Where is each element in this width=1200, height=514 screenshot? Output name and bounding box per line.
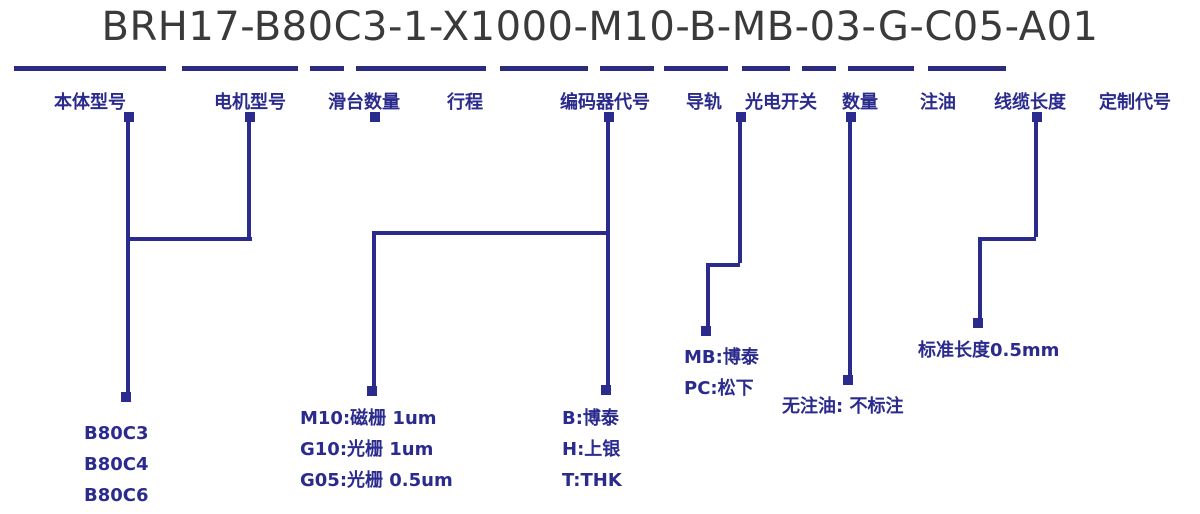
field-label-guide_rail: 导轨: [686, 88, 722, 114]
rail-leader-vertical-upper: [606, 117, 610, 267]
photo-leader-vertical-upper: [738, 117, 742, 263]
oil-leader-end-marker: [843, 375, 853, 385]
option-block-rail_values: B:博泰H:上银T:THK: [562, 403, 622, 496]
field-label-stroke: 行程: [447, 88, 483, 114]
segment-bar-body_model: [14, 66, 166, 71]
encoder-leader-vertical-upper: [372, 231, 376, 389]
encoder-leader-horizontal-jog: [372, 231, 608, 235]
oil-leader-vertical-upper: [848, 117, 852, 263]
segment-bar-custom_code: [928, 66, 1006, 71]
option-block-cable_values: 标准长度0.5mm: [918, 335, 1059, 366]
option-value: G05:光栅 0.5um: [300, 465, 453, 496]
body-leader-end-marker: [121, 392, 131, 402]
segment-bar-motor_model: [182, 66, 298, 71]
option-value: B80C3: [84, 418, 149, 449]
segment-bar-guide_rail: [600, 66, 654, 71]
option-block-photo_switch_values: MB:博泰PC:松下: [684, 342, 759, 404]
segment-bar-cable_length: [848, 66, 914, 71]
cable-leader-vertical-upper: [1034, 117, 1038, 237]
option-value: B80C6: [84, 480, 149, 511]
photo-leader-vertical-lower: [706, 263, 710, 327]
segment-bar-encoder_code: [500, 66, 588, 71]
option-value: 无注油: 不标注: [782, 391, 903, 422]
option-value: PC:松下: [684, 373, 759, 404]
body-leader-vertical-upper: [126, 117, 130, 237]
option-value: 标准长度0.5mm: [918, 335, 1059, 366]
quantity-h: [126, 237, 252, 241]
field-label-quantity: 数量: [842, 88, 878, 114]
field-label-encoder_code: 编码器代号: [560, 88, 650, 114]
rail-leader-end-marker: [601, 385, 611, 395]
cable-leader-end-marker: [973, 318, 983, 328]
diagram-canvas: BRH17-B80C3-1-X1000-M10-B-MB-03-G-C05-A0…: [0, 0, 1200, 514]
option-value: G10:光栅 1um: [300, 434, 453, 465]
option-value: M10:磁栅 1um: [300, 403, 453, 434]
field-label-body_model: 本体型号: [54, 88, 126, 114]
cable-leader-vertical-lower: [978, 237, 982, 319]
encoder-leader-end-marker: [367, 386, 377, 396]
option-value: H:上银: [562, 434, 622, 465]
field-label-oiling: 注油: [920, 88, 956, 114]
option-block-oiling_values: 无注油: 不标注: [782, 391, 903, 422]
segment-bar-oiling: [802, 66, 836, 71]
segment-bar-slide_count: [310, 66, 344, 71]
body-leader-vertical-lower: [126, 237, 130, 395]
photo-leader-horizontal-jog: [706, 263, 740, 267]
option-value: MB:博泰: [684, 342, 759, 373]
option-block-body_model_values: B80C3B80C4B80C6: [84, 418, 149, 511]
motor-tail-v: [247, 117, 251, 239]
field-label-custom_code: 定制代号: [1099, 88, 1171, 114]
option-value: B80C4: [84, 449, 149, 480]
field-label-slide_count: 滑台数量: [328, 88, 400, 114]
segment-bar-photo_switch: [664, 66, 728, 71]
encoder-leader-top-marker: [370, 112, 380, 122]
part-number-headline: BRH17-B80C3-1-X1000-M10-B-MB-03-G-C05-A0…: [0, 4, 1200, 50]
field-label-photo_switch: 光电开关: [745, 88, 817, 114]
segment-bar-stroke: [356, 66, 486, 71]
field-label-cable_length: 线缆长度: [994, 88, 1066, 114]
field-label-motor_model: 电机型号: [214, 88, 286, 114]
option-value: B:博泰: [562, 403, 622, 434]
cable-leader-horizontal-jog: [978, 237, 1036, 241]
segment-bar-quantity: [742, 66, 790, 71]
option-value: T:THK: [562, 465, 622, 496]
option-block-encoder_values: M10:磁栅 1umG10:光栅 1umG05:光栅 0.5um: [300, 403, 453, 496]
photo-leader-end-marker: [701, 326, 711, 336]
oil-leader-vertical-lower: [848, 263, 852, 375]
rail-leader-vertical-lower: [606, 267, 610, 385]
